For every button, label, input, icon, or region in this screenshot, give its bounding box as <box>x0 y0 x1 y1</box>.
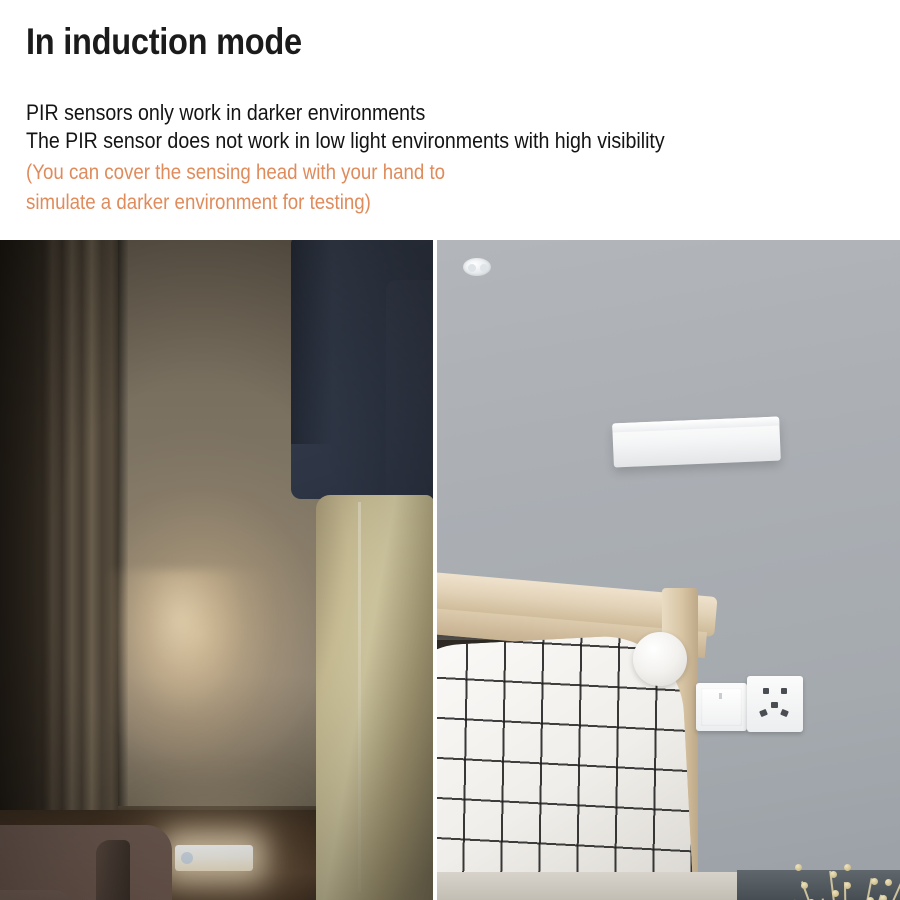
socket-pin-slot-2 <box>781 688 787 694</box>
subtitle-line-2: The PIR sensor does not work in low ligh… <box>26 128 665 154</box>
led-light-bar-off <box>612 417 781 468</box>
wall-light-switch[interactable] <box>696 683 747 731</box>
dried-flowers <box>789 870 899 900</box>
bed-mattress-edge <box>437 872 737 900</box>
flower-stem <box>848 895 882 900</box>
pir-lens-left <box>468 264 476 272</box>
switch-indicator-icon <box>719 693 722 699</box>
flower-bud <box>844 864 851 871</box>
flower-bud <box>830 871 837 878</box>
pir-lens-right <box>480 264 488 272</box>
product-infographic-page: In induction mode PIR sensors only work … <box>0 0 900 900</box>
left-photo-dark-room: PIR sensors only sense in darker environ… <box>0 240 433 900</box>
note-line-1: (You can cover the sensing head with you… <box>26 161 445 185</box>
flower-bud <box>885 879 892 886</box>
socket-pin-slot-4 <box>759 709 768 717</box>
right-photo-bright-room: In low light environments, visibility is… <box>437 240 900 900</box>
photo-vignette <box>0 240 433 900</box>
flower-bud <box>867 897 874 900</box>
socket-pin-slot-5 <box>780 709 789 717</box>
pillow-pompom <box>633 632 687 686</box>
socket-pin-slot-1 <box>763 688 769 694</box>
flower-bud <box>844 882 851 889</box>
flower-bud <box>795 864 802 871</box>
subtitle-line-1: PIR sensors only work in darker environm… <box>26 100 425 126</box>
wall-power-socket <box>747 676 803 732</box>
page-title: In induction mode <box>26 21 302 63</box>
flower-bud <box>871 878 878 885</box>
comparison-photo-strip: PIR sensors only sense in darker environ… <box>0 240 900 900</box>
note-line-2: simulate a darker environment for testin… <box>26 191 371 215</box>
header-text-block: In induction mode PIR sensors only work … <box>0 0 900 240</box>
flower-bud <box>832 890 839 897</box>
socket-pin-slot-3 <box>771 702 778 708</box>
flower-stem <box>848 883 900 900</box>
flower-bud <box>801 882 808 889</box>
flower-bud <box>880 895 887 900</box>
